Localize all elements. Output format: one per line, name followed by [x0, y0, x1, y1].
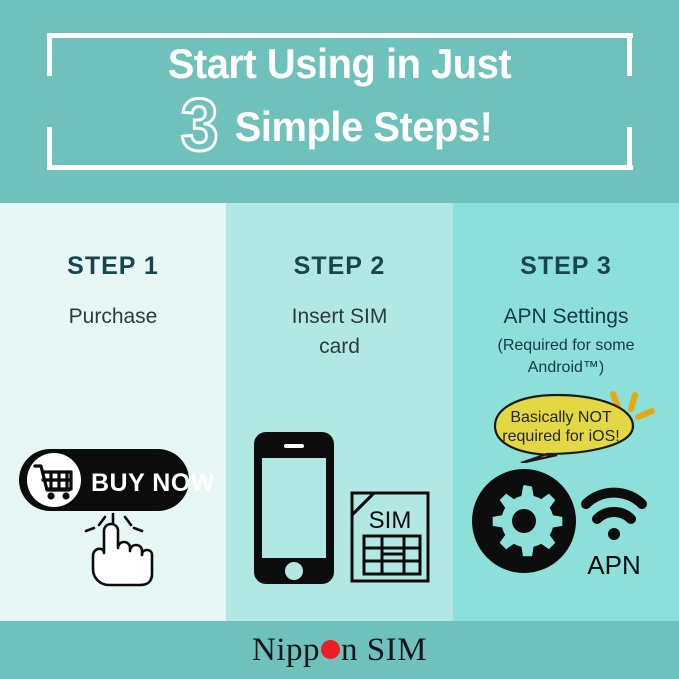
- header-banner: Start Using in Just 3 Simple Steps!: [0, 0, 679, 203]
- step-2-description: Insert SIM card: [226, 302, 453, 362]
- cart-wheel-right: [62, 492, 69, 499]
- header-title-line-1: Start Using in Just: [17, 38, 662, 90]
- gear-icon: [472, 469, 576, 573]
- buy-now-label: BUY NOW: [91, 469, 213, 497]
- bubble-line-1: Basically NOT: [510, 409, 612, 426]
- step-2-title: STEP 2: [226, 252, 453, 281]
- pointing-hand-cursor-icon: [93, 524, 152, 585]
- steps-container: STEP 1 Purchase BUY NOW: [0, 203, 679, 621]
- step-3-description: APN Settings: [453, 302, 679, 332]
- step-column-3: STEP 3 APN Settings (Required for some A…: [453, 203, 679, 621]
- sim-insert-illustration: SIM: [240, 418, 440, 598]
- step-1-description: Purchase: [0, 302, 226, 332]
- step-1-title: STEP 1: [0, 252, 226, 281]
- step-column-1: STEP 1 Purchase BUY NOW: [0, 203, 226, 621]
- step-2-description-line-1: Insert SIM: [240, 302, 439, 332]
- sim-contacts-grid: [364, 536, 420, 574]
- smartphone-icon: [254, 432, 334, 584]
- step-3-note: (Required for some Android™): [453, 335, 679, 379]
- bracket-line-bottom: [47, 165, 633, 170]
- bubble-line-2: required for iOS!: [502, 428, 619, 445]
- brand-logo-part-2: n SIM: [341, 632, 427, 669]
- footer-bar: Nippn SIM: [0, 621, 679, 679]
- cart-wheel-left: [47, 492, 54, 499]
- sim-card-icon: SIM: [352, 493, 428, 581]
- speech-bubble: Basically NOT required for iOS!: [485, 391, 675, 463]
- header-title-group: Start Using in Just 3 Simple Steps!: [0, 38, 679, 160]
- step-count-number: 3: [181, 92, 219, 158]
- step-3-title: STEP 3: [453, 252, 679, 281]
- header-title-line-2: Simple Steps!: [235, 101, 493, 153]
- infographic-poster: Start Using in Just 3 Simple Steps! STEP…: [0, 0, 679, 679]
- step-2-description-line-2: card: [240, 332, 439, 362]
- header-title-line-2-row: 3 Simple Steps!: [0, 94, 679, 160]
- sim-card-label: SIM: [369, 507, 412, 534]
- apn-label: APN: [587, 550, 640, 580]
- brand-logo: Nippn SIM: [252, 632, 427, 669]
- brand-logo-red-dot: [321, 640, 340, 659]
- wifi-icon: [586, 493, 642, 540]
- step-column-2: STEP 2 Insert SIM card SIM: [226, 203, 453, 621]
- apn-settings-illustration: APN: [467, 466, 667, 586]
- brand-logo-part-1: Nipp: [252, 632, 320, 669]
- step-3-note-line-2: Android™): [463, 357, 669, 379]
- buy-now-illustration: BUY NOW: [13, 443, 213, 593]
- step-3-note-line-1: (Required for some: [463, 335, 669, 357]
